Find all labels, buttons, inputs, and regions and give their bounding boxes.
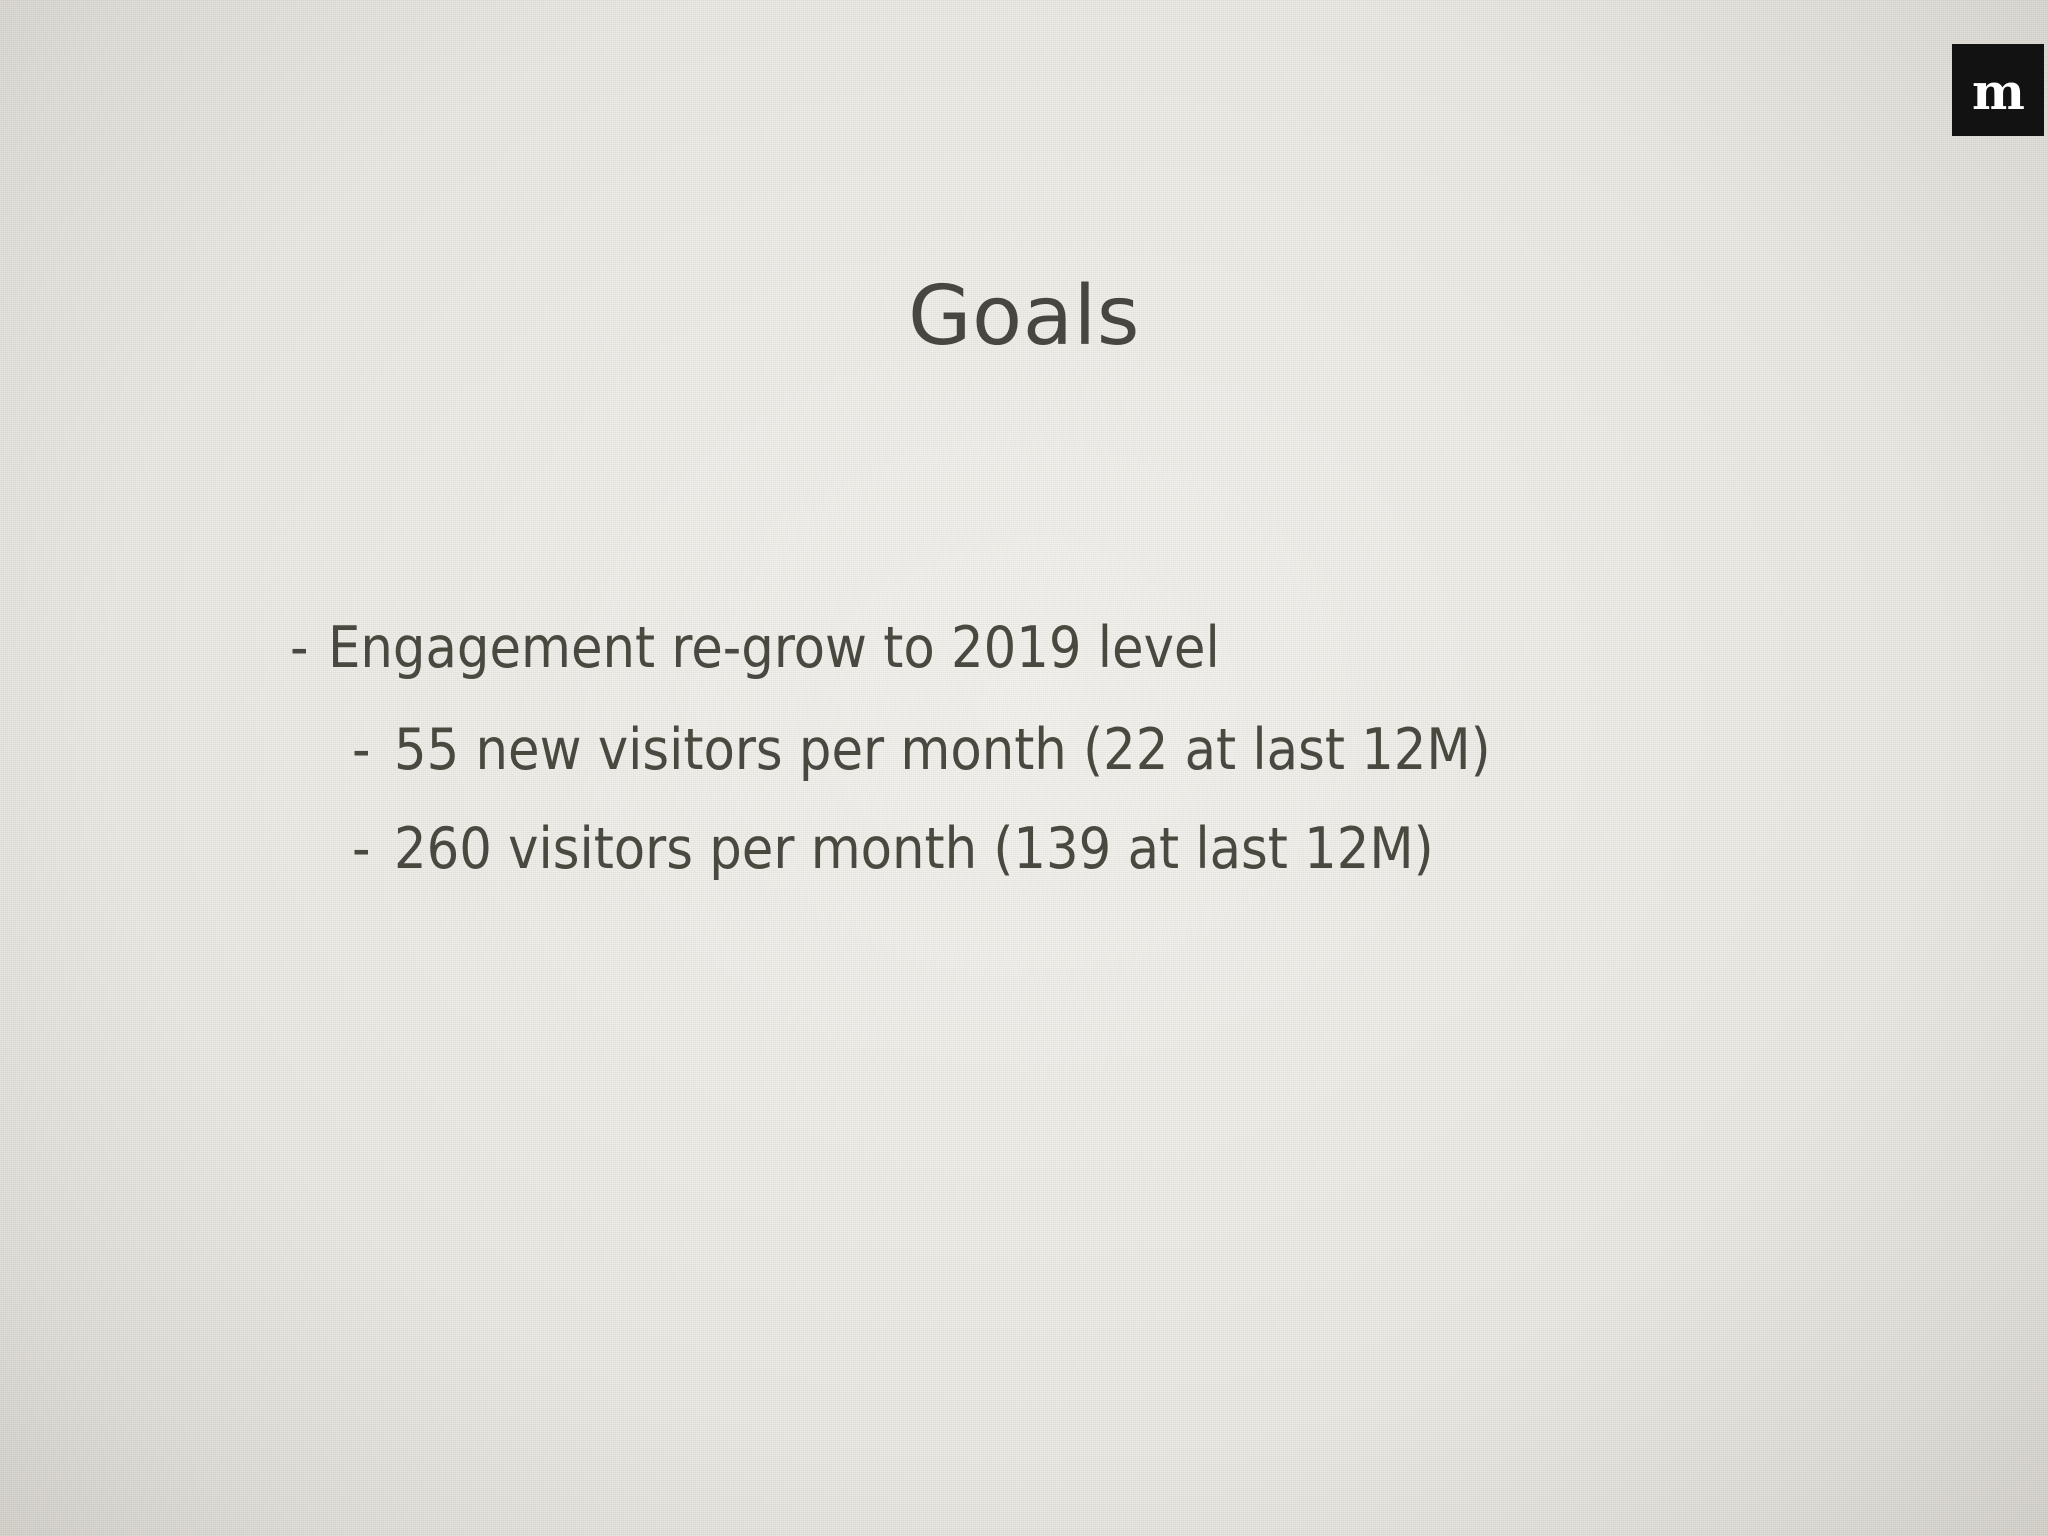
slide-canvas: m Goals - Engagement re-grow to 2019 lev… — [0, 0, 2048, 1536]
bullet-dash-marker: - — [352, 821, 394, 878]
bullet-text: Engagement re-grow to 2019 level — [328, 620, 1220, 677]
bullet-text: 260 visitors per month (139 at last 12M) — [394, 821, 1434, 878]
bullet-dash-marker: - — [290, 620, 328, 677]
bullet-item-level2: - 55 new visitors per month (22 at last … — [290, 722, 1790, 779]
brand-logo: m — [1952, 44, 2044, 136]
logo-mark-letter: m — [1972, 67, 2024, 117]
bullet-list: - Engagement re-grow to 2019 level - 55 … — [290, 620, 1790, 920]
bullet-text: 55 new visitors per month (22 at last 12… — [394, 722, 1491, 779]
slide-title: Goals — [0, 276, 2048, 358]
bullet-item-level2: - 260 visitors per month (139 at last 12… — [290, 821, 1790, 878]
bullet-item-level1: - Engagement re-grow to 2019 level — [290, 620, 1790, 677]
bullet-dash-marker: - — [352, 722, 394, 779]
